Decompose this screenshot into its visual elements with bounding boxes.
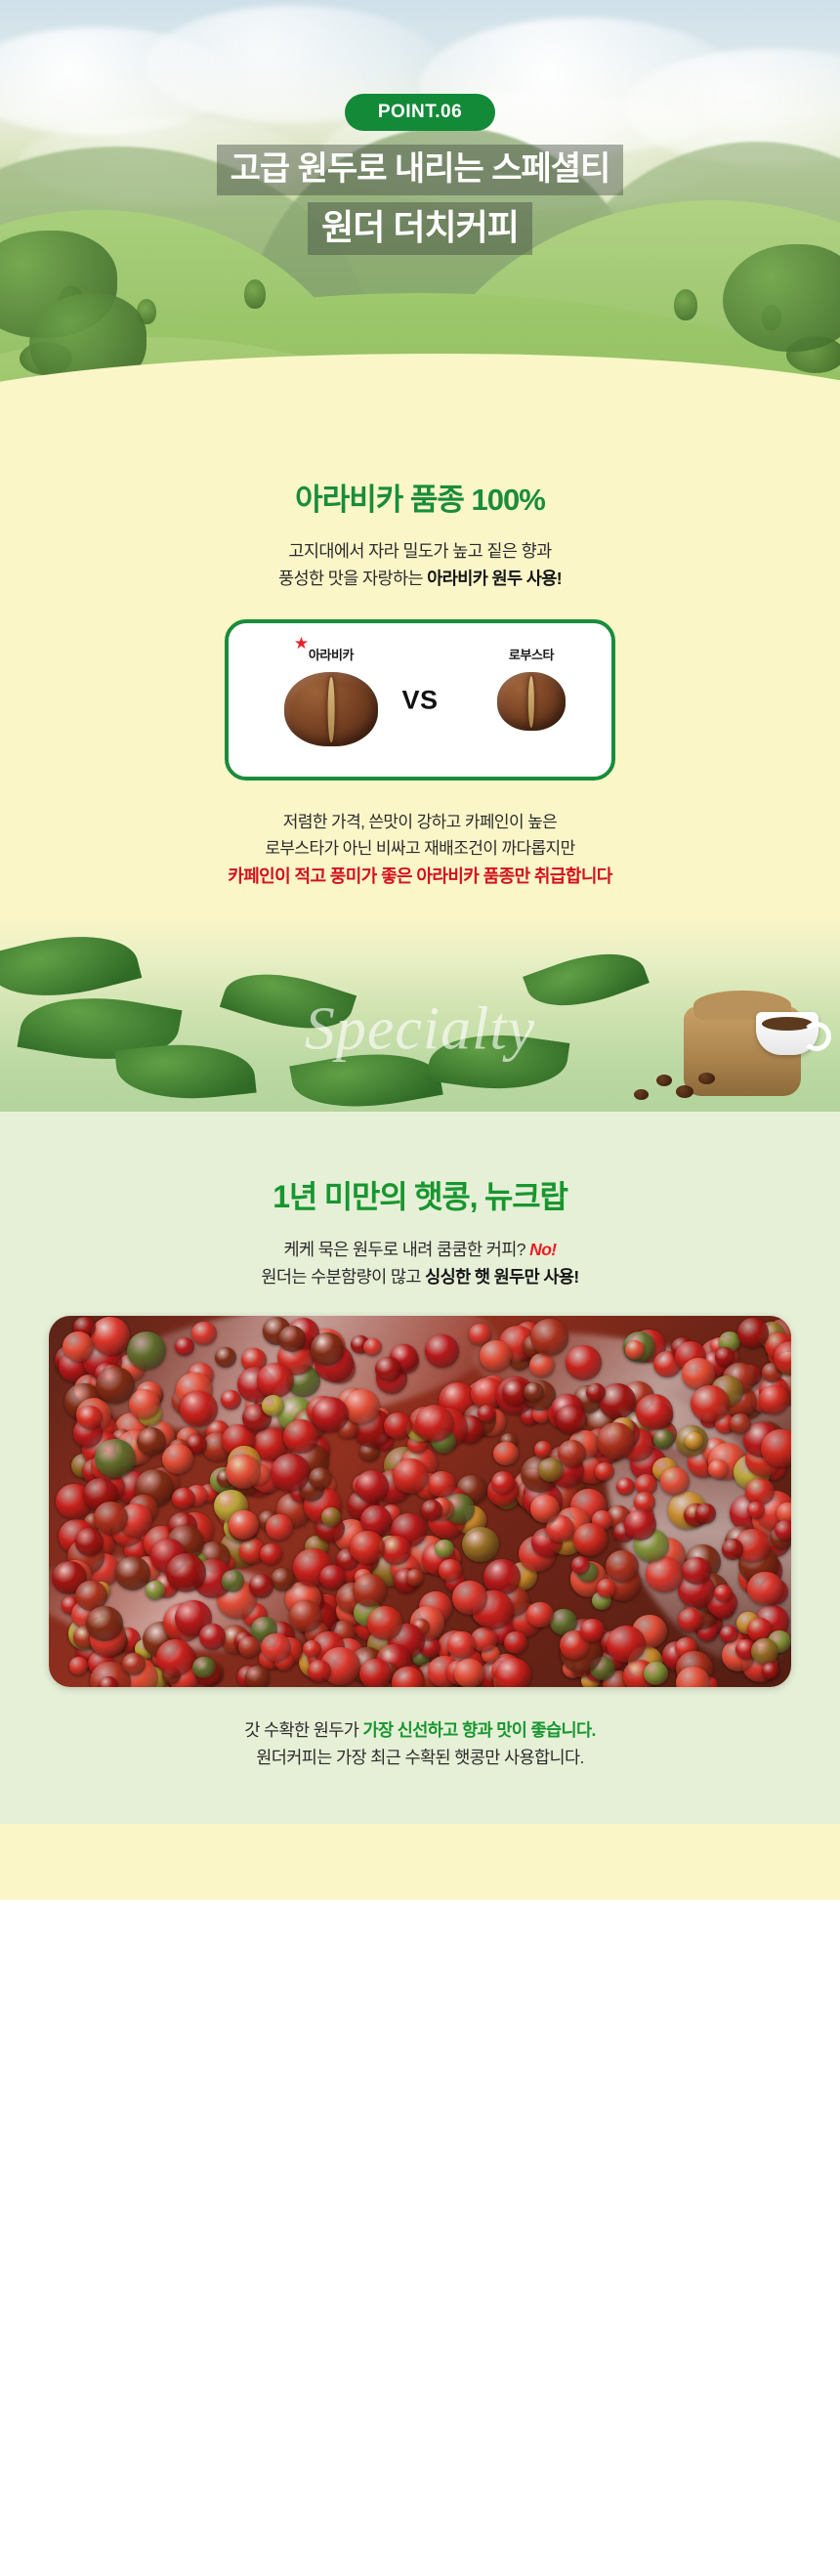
coffee-bean-decoration (698, 1073, 715, 1084)
newcrop-note-line-2: 원더커피는 가장 최근 수확된 햇콩만 사용합니다. (256, 1748, 584, 1767)
coffee-cherry-decoration (344, 1389, 380, 1424)
newcrop-desc-line-2-plain: 원더는 수분함량이 많고 (261, 1267, 425, 1287)
newcrop-desc-line-1-plain: 케케 묵은 원두로 내려 쿰쿰한 커피? (283, 1240, 529, 1259)
coffee-cherry-decoration (75, 1528, 105, 1555)
coffee-cherry-decoration (607, 1626, 646, 1663)
coffee-cherry-decoration (384, 1413, 412, 1440)
coffee-cherry-decoration (691, 1385, 730, 1422)
newcrop-description: 케케 묵은 원두로 내려 쿰쿰한 커피? No! 원더는 수분함량이 많고 싱싱… (0, 1237, 840, 1290)
newcrop-note-line-1-plain: 갓 수확한 원두가 (244, 1720, 362, 1740)
coffee-cherry-decoration (94, 1501, 128, 1535)
newcrop-note-line-1-bold: 가장 신선하고 향과 맛이 좋습니다. (362, 1720, 595, 1740)
coffee-cherry-decoration (624, 1509, 656, 1541)
coffee-cherry-decoration (491, 1471, 515, 1494)
coffee-cherry-decoration (447, 1631, 476, 1658)
coffee-cherry-decoration (215, 1347, 236, 1368)
star-icon: ★ (294, 635, 309, 652)
coffee-cherry-decoration (530, 1319, 568, 1356)
coffee-cherry-decoration (708, 1459, 729, 1479)
arabica-bean-label-wrap: ★ 아라비카 (309, 645, 354, 663)
coffee-cherry-decoration (363, 1338, 382, 1356)
arabica-desc-line-1: 고지대에서 자라 밀도가 높고 짙은 향과 (288, 541, 551, 561)
coffee-cherry-decoration (191, 1322, 217, 1346)
coffee-cherry-decoration (722, 1539, 743, 1559)
coffee-cherry-decoration (406, 1569, 424, 1586)
coffee-cherry-decoration (199, 1624, 226, 1649)
coffee-cherry-decoration (69, 1657, 88, 1675)
coffee-cherry-decoration (260, 1543, 281, 1565)
newcrop-desc-line-2-bold: 싱싱한 햇 원두만 사용! (425, 1267, 579, 1287)
leaf-icon (289, 1040, 442, 1112)
coffee-cherry-decoration (745, 1478, 775, 1505)
robusta-bean-column: 로부스타 (473, 645, 590, 731)
coffee-cherry-decoration (375, 1357, 401, 1381)
arabica-note: 저렴한 가격, 쓴맛이 강하고 카페인이 높은 로부스타가 아닌 비싸고 재배조… (0, 810, 840, 891)
footer-strip (0, 1824, 840, 1900)
coffee-cherry-decoration (192, 1657, 216, 1679)
newcrop-heading: 1년 미만의 햇콩, 뉴크랍 (0, 1172, 840, 1217)
arabica-section: 아라비카 품종 100% 고지대에서 자라 밀도가 높고 짙은 향과 풍성한 맛… (0, 420, 840, 1112)
coffee-cherry-decoration (245, 1666, 270, 1687)
coffee-bean-decoration (676, 1085, 693, 1098)
newcrop-section: 1년 미만의 햇콩, 뉴크랍 케케 묵은 원두로 내려 쿰쿰한 커피? No! … (0, 1112, 840, 1824)
coffee-cherry-decoration (283, 1419, 319, 1454)
coffee-cherry-decoration (452, 1581, 487, 1615)
coffee-cherry-decoration (319, 1565, 346, 1590)
coffee-cherry-decoration (646, 1557, 683, 1593)
coffee-cherry-decoration (526, 1602, 554, 1627)
arabica-desc-line-2-plain: 풍성한 맛을 자랑하는 (278, 569, 427, 588)
coffee-cherry-decoration (534, 1441, 552, 1458)
coffee-cherry-decoration (439, 1559, 462, 1582)
coffee-cherry-decoration (775, 1520, 791, 1541)
arabica-bean-column: ★ 아라비카 (258, 645, 404, 746)
coffee-cherry-decoration (156, 1639, 194, 1676)
coffee-cherry-decoration (311, 1332, 345, 1365)
coffee-cherry-decoration (625, 1340, 646, 1360)
coffee-cherry-decoration (321, 1507, 341, 1526)
coffee-cherry-decoration (122, 1653, 146, 1675)
coffee-cherry-decoration (762, 1663, 779, 1679)
coffee-cherry-decoration (660, 1467, 690, 1495)
coffee-cherry-decoration (751, 1638, 778, 1665)
coffee-cherry-decoration (558, 1440, 586, 1467)
coffee-cherry-decoration (271, 1568, 295, 1591)
coffee-cherry-decoration (644, 1662, 668, 1685)
coffee-cherry-decoration (393, 1458, 430, 1494)
coffee-cherry-decoration (238, 1636, 261, 1658)
coffee-cherry-decoration (454, 1659, 484, 1687)
point-badge: POINT.06 (345, 94, 495, 131)
coffee-cherry-decoration (226, 1455, 261, 1489)
coffee-cherry-decoration (556, 1405, 586, 1434)
coffee-cherry-decoration (530, 1495, 560, 1523)
coffee-cherry-decoration (606, 1550, 639, 1583)
coffee-cherry-decoration (504, 1631, 527, 1654)
coffee-cherry-decoration (715, 1347, 735, 1366)
coffee-cup-image (756, 1012, 819, 1055)
coffee-cherry-decoration (127, 1331, 166, 1369)
hero-title-line-1: 고급 원두로 내리는 스페셜티 (217, 145, 624, 195)
newcrop-note: 갓 수확한 원두가 가장 신선하고 향과 맛이 좋습니다. 원더커피는 가장 최… (0, 1716, 840, 1771)
coffee-cherry-decoration (166, 1553, 206, 1592)
coffee-cherry-decoration (146, 1581, 166, 1600)
coffee-cherry-decoration (653, 1430, 674, 1450)
coffee-cherry-decoration (462, 1527, 498, 1562)
arabica-desc-line-2-bold: 아라비카 원두 사용! (427, 569, 562, 588)
arabica-bean-image (284, 672, 378, 746)
coffee-cherry-decoration (636, 1394, 673, 1429)
coffee-bean-decoration (656, 1075, 672, 1086)
coffee-cherry-decoration (356, 1470, 389, 1502)
coffee-cherry-decoration (278, 1326, 306, 1352)
coffee-cherry-decoration (350, 1531, 385, 1564)
coffee-cherry-decoration (115, 1556, 150, 1590)
coffee-cherry-photo: {} (49, 1316, 791, 1687)
bean-comparison-card: ★ 아라비카 VS 로부스타 (225, 619, 615, 781)
coffee-cherry-decoration (714, 1584, 733, 1602)
coffee-cherry-decoration (96, 1367, 135, 1405)
newcrop-desc-no-label: No! (529, 1240, 556, 1259)
coffee-cherry-decoration (678, 1608, 703, 1632)
coffee-cherry-decoration (367, 1606, 402, 1640)
coffee-cherry-decoration (162, 1444, 193, 1474)
coffee-cherry-decoration (483, 1559, 521, 1595)
arabica-note-line-2: 로부스타가 아닌 비싸고 재배조건이 까다롭지만 (265, 839, 574, 858)
arabica-note-line-1: 저렴한 가격, 쓴맛이 강하고 카페인이 높은 (283, 813, 557, 831)
coffee-cherry-decoration (175, 1337, 194, 1356)
coffee-cherry-decoration (229, 1510, 259, 1539)
coffee-cherry-decoration (495, 1658, 532, 1688)
hero-title-line-2: 원더 더치커피 (308, 202, 532, 255)
coffee-cherry-decoration (180, 1391, 218, 1427)
coffee-cherry-decoration (597, 1422, 636, 1459)
coffee-cherry-decoration (312, 1397, 349, 1433)
coffee-cherry-decoration (682, 1557, 710, 1584)
coffee-cherry-decoration (289, 1600, 323, 1632)
coffee-cherry-decoration (720, 1626, 738, 1643)
arabica-heading: 아라비카 품종 100% (0, 475, 840, 519)
coffee-cherry-decoration (271, 1454, 311, 1492)
arabica-bean-label: 아라비카 (309, 648, 354, 662)
leaf-icon (220, 956, 357, 1046)
coffee-cherry-decoration (480, 1340, 512, 1372)
coffee-cherry-decoration (261, 1633, 291, 1662)
coffee-cherry-decoration (571, 1556, 591, 1575)
coffee-cherry-decoration (597, 1579, 617, 1598)
coffee-bean-decoration (634, 1089, 649, 1100)
robusta-bean-image (497, 672, 566, 731)
coffee-cherry-decoration (266, 1514, 294, 1541)
coffee-cherry-decoration (353, 1574, 387, 1607)
coffee-cherry-decoration (91, 1317, 130, 1355)
coffee-cherry-decoration (359, 1659, 392, 1687)
leaf-icon (427, 1024, 570, 1099)
coffee-cherry-decoration (172, 1488, 195, 1510)
arabica-description: 고지대에서 자라 밀도가 높고 짙은 향과 풍성한 맛을 자랑하는 아라비카 원… (0, 538, 840, 592)
coffee-cherry-decoration (222, 1570, 244, 1591)
leaf-band-decoration: Specialty (0, 916, 840, 1112)
coffee-cherry-decoration (529, 1353, 555, 1377)
coffee-cherry-decoration (137, 1427, 166, 1456)
robusta-bean-label-wrap: 로부스타 (509, 645, 554, 663)
coffee-cherry-decoration (580, 1619, 604, 1641)
leaf-icon (523, 937, 650, 1023)
vs-label: VS (401, 685, 438, 715)
coffee-cherry-decoration (493, 1442, 519, 1465)
coffee-cherry-decoration (747, 1572, 782, 1606)
coffee-cherry-decoration (95, 1439, 136, 1478)
coffee-cherry-decoration (415, 1405, 454, 1443)
coffee-cherry-decoration (573, 1523, 608, 1556)
coffee-cherry-decoration (435, 1540, 454, 1558)
arabica-note-line-3: 카페인이 적고 풍미가 좋은 아라비카 품종만 취급합니다 (228, 866, 611, 886)
product-detail-page: POINT.06 고급 원두로 내리는 스페셜티 원더 더치커피 아라비카 품종… (0, 0, 840, 1900)
coffee-cherry-decoration (249, 1574, 273, 1597)
coffee-cherry-decoration (747, 1501, 765, 1518)
hero-banner: POINT.06 고급 원두로 내리는 스페셜티 원더 더치커피 (0, 0, 840, 420)
robusta-bean-label: 로부스타 (509, 648, 554, 662)
coffee-cherry-decoration (695, 1503, 716, 1523)
coffee-cherry-decoration (77, 1406, 103, 1430)
